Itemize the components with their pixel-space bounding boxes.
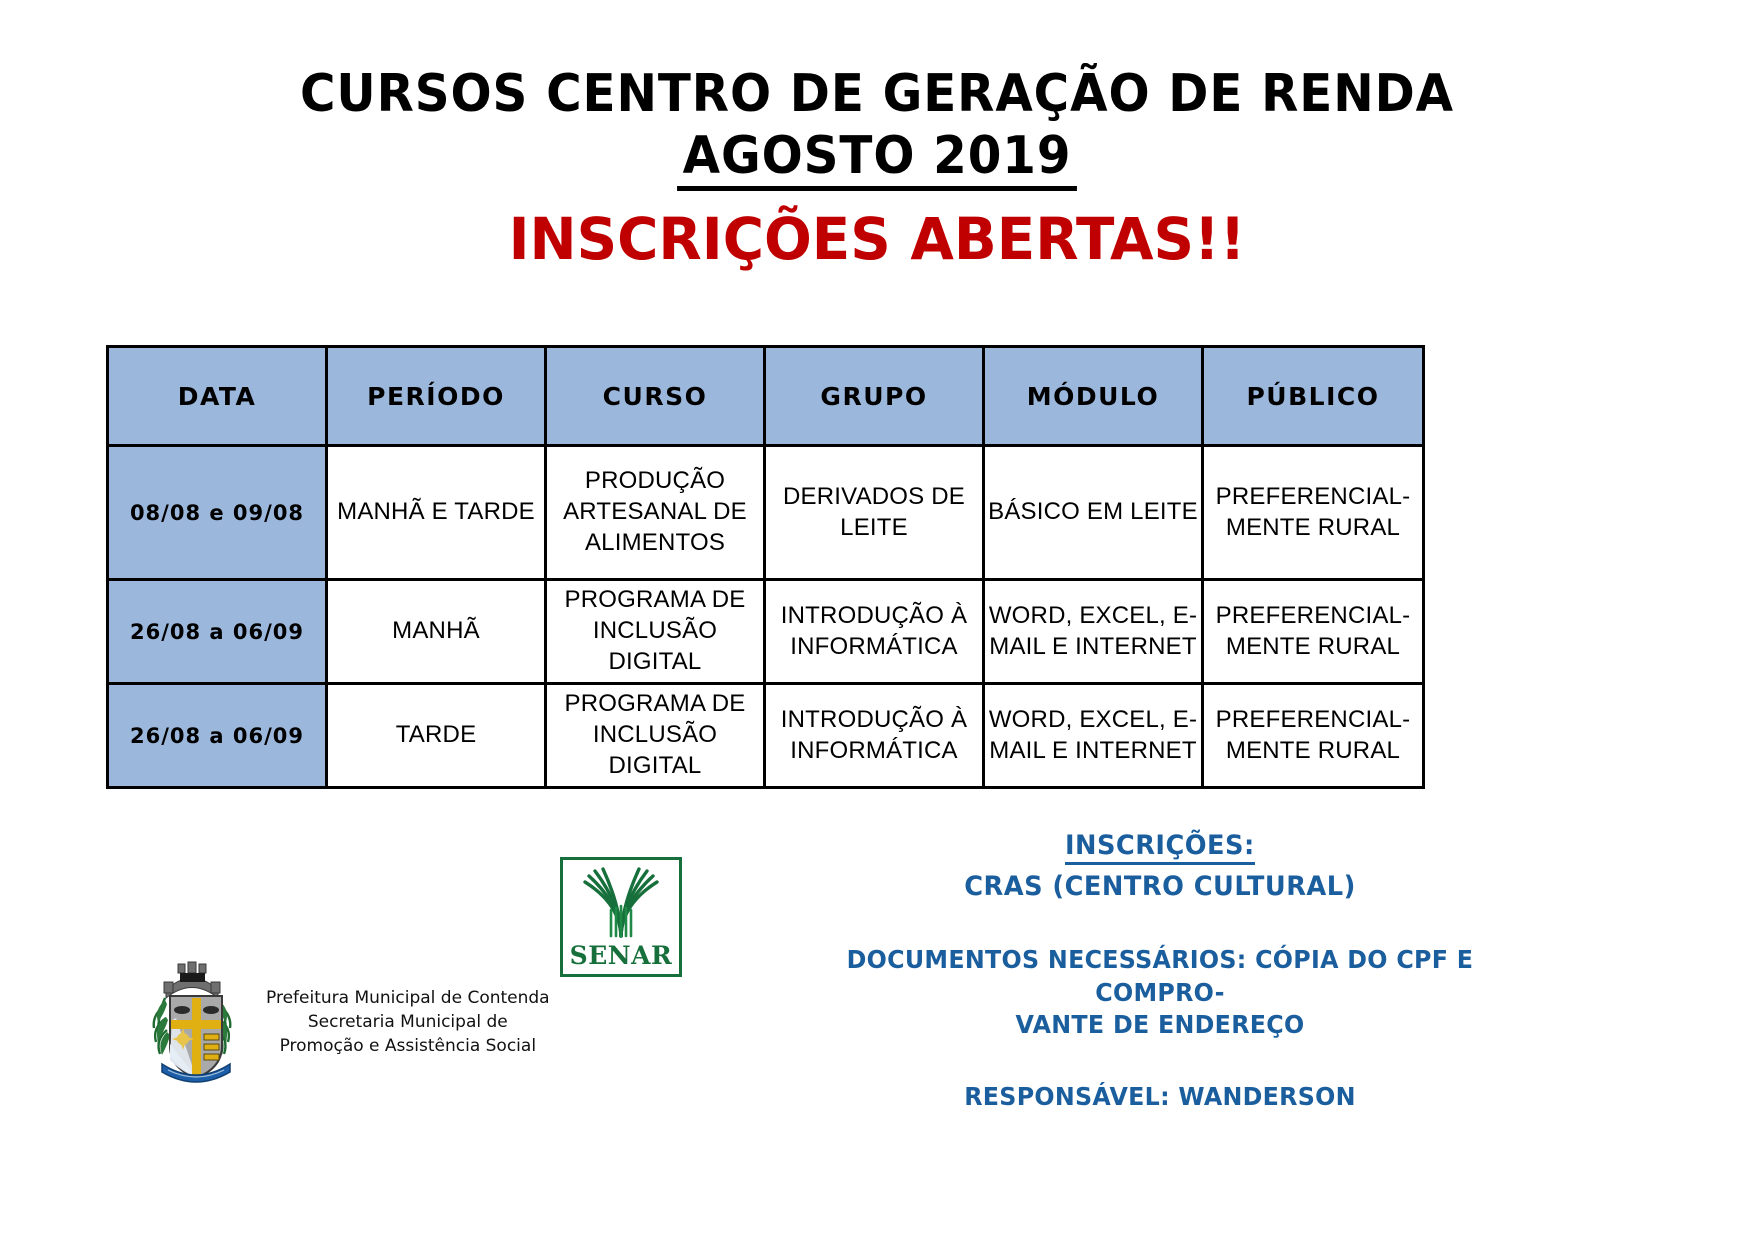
column-header-curso: CURSO bbox=[546, 347, 765, 446]
info-responsible: RESPONSÁVEL: WANDERSON bbox=[809, 1082, 1512, 1111]
senar-wordmark: SENAR bbox=[563, 941, 679, 970]
prefeitura-line1: Prefeitura Municipal de Contenda bbox=[266, 986, 550, 1010]
page-title-line1: CURSOS CENTRO DE GERAÇÃO DE RENDA bbox=[61, 66, 1692, 122]
cell-data: 26/08 a 06/09 bbox=[108, 580, 327, 684]
cell-periodo: TARDE bbox=[327, 684, 546, 788]
cell-publico: PREFERENCIAL-MENTE RURAL bbox=[1203, 580, 1424, 684]
cell-modulo: WORD, EXCEL, E-MAIL E INTERNET bbox=[984, 684, 1203, 788]
info-documents: DOCUMENTOS NECESSÁRIOS: CÓPIA DO CPF E C… bbox=[809, 944, 1512, 1042]
footer-section: Prefeitura Municipal de Contenda Secreta… bbox=[0, 830, 1754, 1230]
cell-publico: PREFERENCIAL-MENTE RURAL bbox=[1203, 446, 1424, 580]
info-documents-line2: VANTE DE ENDEREÇO bbox=[809, 1009, 1512, 1042]
cell-curso: PROGRAMA DE INCLUSÃO DIGITAL bbox=[546, 684, 765, 788]
cell-grupo: DERIVADOS DE LEITE bbox=[765, 446, 984, 580]
page-title-line2: AGOSTO 2019 bbox=[677, 128, 1077, 191]
column-header-modulo: MÓDULO bbox=[984, 347, 1203, 446]
cell-modulo: BÁSICO EM LEITE bbox=[984, 446, 1203, 580]
cell-data: 26/08 a 06/09 bbox=[108, 684, 327, 788]
coat-of-arms-icon bbox=[140, 960, 252, 1084]
column-header-publico: PÚBLICO bbox=[1203, 347, 1424, 446]
info-documents-line1: DOCUMENTOS NECESSÁRIOS: CÓPIA DO CPF E C… bbox=[809, 944, 1512, 1009]
cell-modulo: WORD, EXCEL, E-MAIL E INTERNET bbox=[984, 580, 1203, 684]
info-heading: INSCRIÇÕES: bbox=[1065, 830, 1255, 865]
cell-grupo: INTRODUÇÃO À INFORMÁTICA bbox=[765, 684, 984, 788]
column-header-data: DATA bbox=[108, 347, 327, 446]
column-header-periodo: PERÍODO bbox=[327, 347, 546, 446]
table-row: 26/08 a 06/09 MANHÃ PROGRAMA DE INCLUSÃO… bbox=[108, 580, 1424, 684]
prefeitura-line2: Secretaria Municipal de bbox=[266, 1010, 550, 1034]
cell-curso: PROGRAMA DE INCLUSÃO DIGITAL bbox=[546, 580, 765, 684]
page-title-line2-wrap: AGOSTO 2019 bbox=[0, 128, 1754, 191]
cell-publico: PREFERENCIAL-MENTE RURAL bbox=[1203, 684, 1424, 788]
prefeitura-logo-group: Prefeitura Municipal de Contenda Secreta… bbox=[140, 960, 550, 1084]
poster-title-block: CURSOS CENTRO DE GERAÇÃO DE RENDA AGOSTO… bbox=[0, 66, 1754, 270]
info-place: CRAS (CENTRO CULTURAL) bbox=[809, 871, 1512, 902]
info-heading-wrap: INSCRIÇÕES: bbox=[790, 830, 1530, 865]
senar-logo: SENAR bbox=[560, 857, 682, 977]
column-header-grupo: GRUPO bbox=[765, 347, 984, 446]
courses-schedule-table: DATA PERÍODO CURSO GRUPO MÓDULO PÚBLICO … bbox=[106, 345, 1425, 789]
table-row: 26/08 a 06/09 TARDE PROGRAMA DE INCLUSÃO… bbox=[108, 684, 1424, 788]
table-header-row: DATA PERÍODO CURSO GRUPO MÓDULO PÚBLICO bbox=[108, 347, 1424, 446]
headline-inscricoes-abertas: INSCRIÇÕES ABERTAS!! bbox=[26, 209, 1727, 270]
cell-grupo: INTRODUÇÃO À INFORMÁTICA bbox=[765, 580, 984, 684]
cell-periodo: MANHÃ bbox=[327, 580, 546, 684]
cell-periodo: MANHÃ E TARDE bbox=[327, 446, 546, 580]
cell-curso: PRODUÇÃO ARTESANAL DE ALIMENTOS bbox=[546, 446, 765, 580]
senar-fan-icon bbox=[563, 860, 679, 940]
table-row: 08/08 e 09/08 MANHÃ E TARDE PRODUÇÃO ART… bbox=[108, 446, 1424, 580]
registration-info-block: INSCRIÇÕES: CRAS (CENTRO CULTURAL) DOCUM… bbox=[790, 830, 1530, 1111]
prefeitura-text: Prefeitura Municipal de Contenda Secreta… bbox=[266, 986, 550, 1058]
prefeitura-line3: Promoção e Assistência Social bbox=[266, 1034, 550, 1058]
cell-data: 08/08 e 09/08 bbox=[108, 446, 327, 580]
